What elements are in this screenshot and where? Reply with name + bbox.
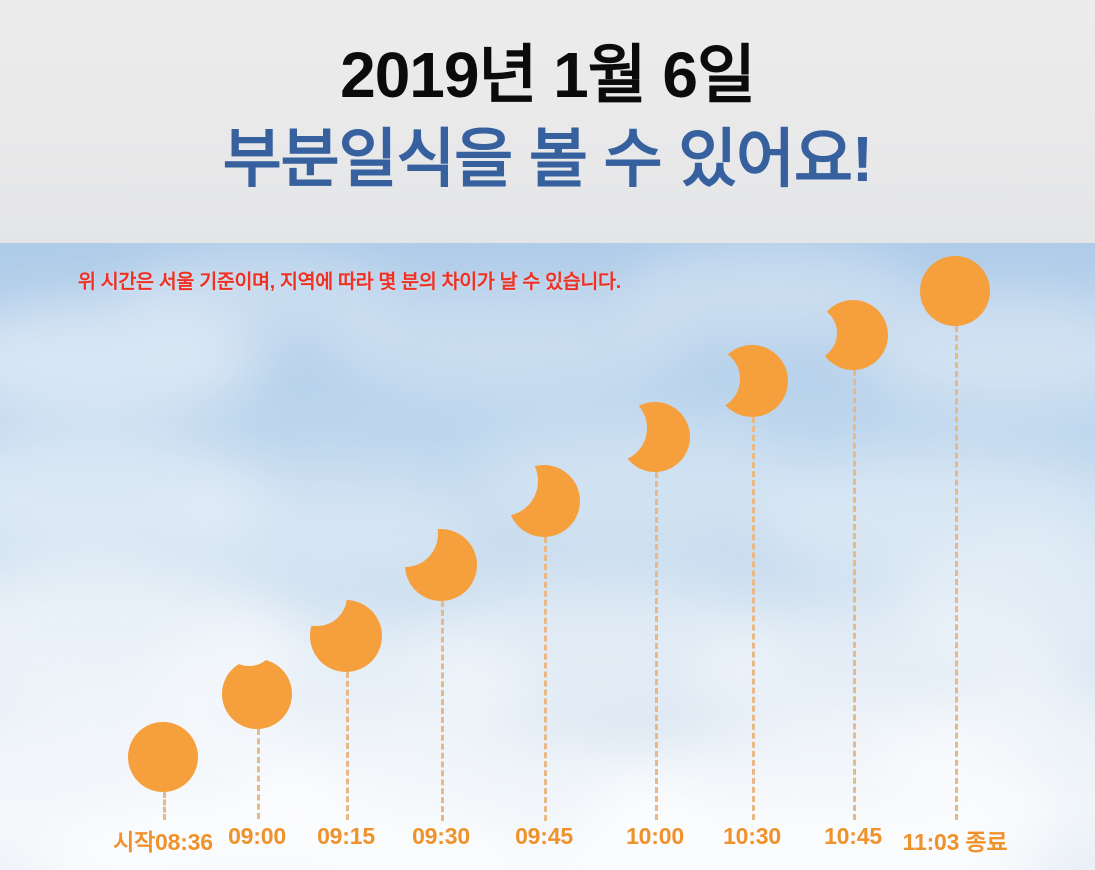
cloud-puff	[0, 300, 260, 420]
eclipse-phase-0836	[122, 716, 204, 798]
phase-drop-line	[955, 326, 958, 820]
eclipse-phase-0915	[304, 594, 388, 678]
notice-text: 위 시간은 서울 기준이며, 지역에 따라 몇 분의 차이가 날 수 있습니다.	[78, 265, 621, 294]
sun-disc	[122, 716, 204, 798]
page-title-date: 2019년 1월 6일	[0, 42, 1095, 109]
sun-disc	[614, 396, 696, 478]
eclipse-phase-1103	[914, 250, 996, 332]
phase-drop-line	[853, 370, 856, 820]
cloud-puff	[120, 250, 400, 340]
phase-drop-line	[346, 672, 349, 820]
time-label-1045: 10:45	[824, 823, 882, 850]
sun-disc	[399, 523, 483, 607]
cloud-puff	[0, 430, 260, 560]
cloud-puff	[330, 285, 690, 395]
eclipse-phase-0900	[216, 653, 298, 735]
header-band: 2019년 1월 6일 부분일식을 볼 수 있어요!	[0, 0, 1095, 243]
eclipse-phase-1000	[614, 396, 696, 478]
phase-drop-line	[441, 601, 444, 821]
time-label-0945: 09:45	[515, 823, 573, 850]
sun-disc	[304, 594, 388, 678]
phase-drop-line	[257, 729, 260, 819]
eclipse-infographic: 위 시간은 서울 기준이며, 지역에 따라 몇 분의 차이가 날 수 있습니다.…	[0, 0, 1095, 870]
cloud-puff	[700, 600, 1080, 750]
time-label-0915: 09:15	[317, 823, 375, 850]
time-axis: 시작08:3609:0009:1509:3009:4510:0010:3010:…	[0, 823, 1095, 863]
time-label-1030: 10:30	[723, 823, 781, 850]
phase-drop-line	[544, 537, 547, 821]
sun-disc	[710, 339, 794, 423]
page-title-headline: 부분일식을 볼 수 있어요!	[0, 126, 1095, 193]
cloud-puff	[900, 540, 1095, 660]
sun-disc	[812, 294, 894, 376]
cloud-puff	[760, 450, 1095, 580]
eclipse-phase-0930	[399, 523, 483, 607]
sun-disc	[914, 250, 996, 332]
eclipse-phase-1030	[710, 339, 794, 423]
sun-disc	[502, 459, 586, 543]
time-label-0836: 시작08:36	[113, 823, 213, 857]
time-label-1000: 10:00	[626, 823, 684, 850]
time-label-0900: 09:00	[228, 823, 286, 850]
eclipse-phase-0945	[502, 459, 586, 543]
time-label-0930: 09:30	[412, 823, 470, 850]
phase-drop-line	[752, 417, 755, 820]
phase-drop-line	[655, 472, 658, 820]
time-label-1103: 11:03 종료	[903, 823, 1008, 857]
eclipse-phase-1045	[812, 294, 894, 376]
sun-disc	[216, 653, 298, 735]
